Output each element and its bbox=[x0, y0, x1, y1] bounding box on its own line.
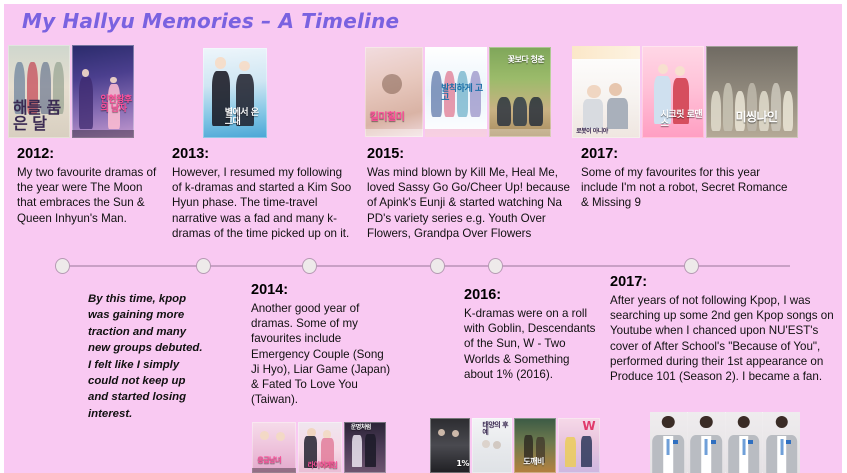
timeline-marker-2015[interactable] bbox=[430, 258, 445, 274]
poster-liar-game: 라이어게임 bbox=[298, 422, 342, 473]
entry-text-2015: Was mind blown by Kill Me, Heal Me, love… bbox=[367, 165, 579, 241]
photo-group-2017-bottom bbox=[650, 412, 800, 473]
poster-im-not-a-robot: 로봇이 아니야 bbox=[572, 46, 640, 138]
entry-year-2013: 2013: bbox=[172, 145, 352, 164]
poster-w-two-worlds: W bbox=[558, 418, 600, 473]
entry-text-2017-top: Some of my favourites for this year incl… bbox=[581, 165, 797, 211]
poster-group-2012: 해를 품은 달 인현왕후의 남자 bbox=[8, 45, 134, 138]
timeline-infographic: My Hallyu Memories – A Timeline 해를 품은 달 … bbox=[0, 0, 847, 473]
entry-note-kpop: By this time, kpop was gaining more trac… bbox=[88, 291, 203, 422]
entry-2012: 2012: My two favourite dramas of the yea… bbox=[17, 145, 157, 226]
entry-year-2012: 2012: bbox=[17, 145, 157, 164]
entry-2015: 2015: Was mind blown by Kill Me, Heal Me… bbox=[367, 145, 579, 241]
poster-missing-9: 미씽나인 bbox=[706, 46, 798, 138]
poster-caption: 응급남녀 bbox=[257, 457, 281, 464]
poster-caption: 도깨비 bbox=[523, 458, 544, 466]
poster-caption: 꽃보다 청춘 bbox=[508, 56, 545, 64]
poster-caption: 발칙하게 고고 bbox=[441, 85, 487, 103]
poster-caption: 킬미힐미 bbox=[370, 113, 405, 123]
poster-fated-to-love-you: 운명처럼 bbox=[344, 422, 386, 473]
poster-secret-romance: 시크릿 로맨스 bbox=[642, 46, 704, 138]
poster-caption: 태양의 후예 bbox=[482, 422, 512, 436]
poster-caption: 해를 품은 달 bbox=[13, 100, 70, 132]
entry-year-2017-bottom: 2017: bbox=[610, 273, 845, 292]
page-title: My Hallyu Memories – A Timeline bbox=[22, 9, 399, 33]
entry-text-2012: My two favourite dramas of the year were… bbox=[17, 165, 157, 226]
page-edge-right bbox=[842, 0, 847, 473]
poster-kill-me-heal-me: 킬미힐미 bbox=[365, 47, 423, 137]
nuest-member bbox=[650, 412, 687, 473]
poster-my-love-from-the-star: 별에서 온 그대 bbox=[203, 48, 267, 138]
poster-something-about-1-percent: 1% bbox=[430, 418, 470, 473]
poster-caption: 인현왕후의 남자 bbox=[101, 96, 134, 114]
poster-sassy-go-go: 발칙하게 고고 bbox=[425, 47, 487, 137]
poster-queen-inhyuns-man: 인현왕후의 남자 bbox=[72, 45, 134, 138]
entry-text-2016: K-dramas were on a roll with Goblin, Des… bbox=[464, 306, 600, 382]
page-edge-top bbox=[0, 0, 847, 4]
entry-2014: 2014: Another good year of dramas. Some … bbox=[251, 281, 391, 407]
poster-caption: 별에서 온 그대 bbox=[225, 109, 267, 127]
entry-text-2013: However, I resumed my following of k-dra… bbox=[172, 165, 352, 241]
nuest-member bbox=[726, 412, 763, 473]
poster-caption: 운명처럼 bbox=[351, 425, 371, 431]
poster-caption: 미씽나인 bbox=[735, 111, 777, 123]
timeline-marker-2014[interactable] bbox=[302, 258, 317, 274]
poster-caption: 로봇이 아니야 bbox=[576, 129, 608, 135]
poster-group-2015: 킬미힐미 발칙하게 고고 꽃보다 청춘 bbox=[365, 47, 551, 137]
poster-group-2013: 별에서 온 그대 bbox=[203, 48, 267, 138]
poster-caption: 1% bbox=[456, 460, 469, 468]
photo-nuest-produce-101 bbox=[650, 412, 800, 473]
poster-caption: 라이어게임 bbox=[308, 462, 338, 469]
poster-goblin: 도깨비 bbox=[514, 418, 556, 473]
entry-text-2014: Another good year of dramas. Some of my … bbox=[251, 301, 391, 407]
timeline-marker-2017[interactable] bbox=[684, 258, 699, 274]
entry-2017-bottom: 2017: After years of not following Kpop,… bbox=[610, 273, 845, 384]
entry-year-2017-top: 2017: bbox=[581, 145, 797, 164]
timeline-marker-2013[interactable] bbox=[196, 258, 211, 274]
poster-caption: 시크릿 로맨스 bbox=[661, 111, 704, 129]
poster-descendants-of-the-sun: 태양의 후예 bbox=[472, 418, 512, 473]
entry-2017-top: 2017: Some of my favourites for this yea… bbox=[581, 145, 797, 211]
poster-group-2016: 1% 태양의 후예 도깨비 W bbox=[430, 418, 600, 473]
entry-year-2014: 2014: bbox=[251, 281, 391, 300]
entry-2016: 2016: K-dramas were on a roll with Gobli… bbox=[464, 286, 600, 382]
nuest-member bbox=[688, 412, 725, 473]
poster-youth-over-flowers: 꽃보다 청춘 bbox=[489, 47, 551, 137]
poster-caption: W bbox=[582, 420, 595, 432]
entry-2013: 2013: However, I resumed my following of… bbox=[172, 145, 352, 241]
poster-moon-embraces-sun: 해를 품은 달 bbox=[8, 45, 70, 138]
nuest-member bbox=[763, 412, 800, 473]
entry-year-2016: 2016: bbox=[464, 286, 600, 305]
poster-emergency-couple: 응급남녀 bbox=[252, 422, 296, 473]
page-edge-left bbox=[0, 0, 4, 473]
poster-group-2014: 응급남녀 라이어게임 운명처럼 bbox=[252, 422, 386, 473]
timeline-marker-2016[interactable] bbox=[488, 258, 503, 274]
poster-group-2017-top: 로봇이 아니야 시크릿 로맨스 미씽나인 bbox=[572, 46, 798, 138]
timeline-axis bbox=[63, 265, 790, 267]
entry-text-note-kpop: By this time, kpop was gaining more trac… bbox=[88, 291, 203, 422]
entry-year-2015: 2015: bbox=[367, 145, 579, 164]
entry-text-2017-bottom: After years of not following Kpop, I was… bbox=[610, 293, 845, 384]
timeline-marker-2012[interactable] bbox=[55, 258, 70, 274]
